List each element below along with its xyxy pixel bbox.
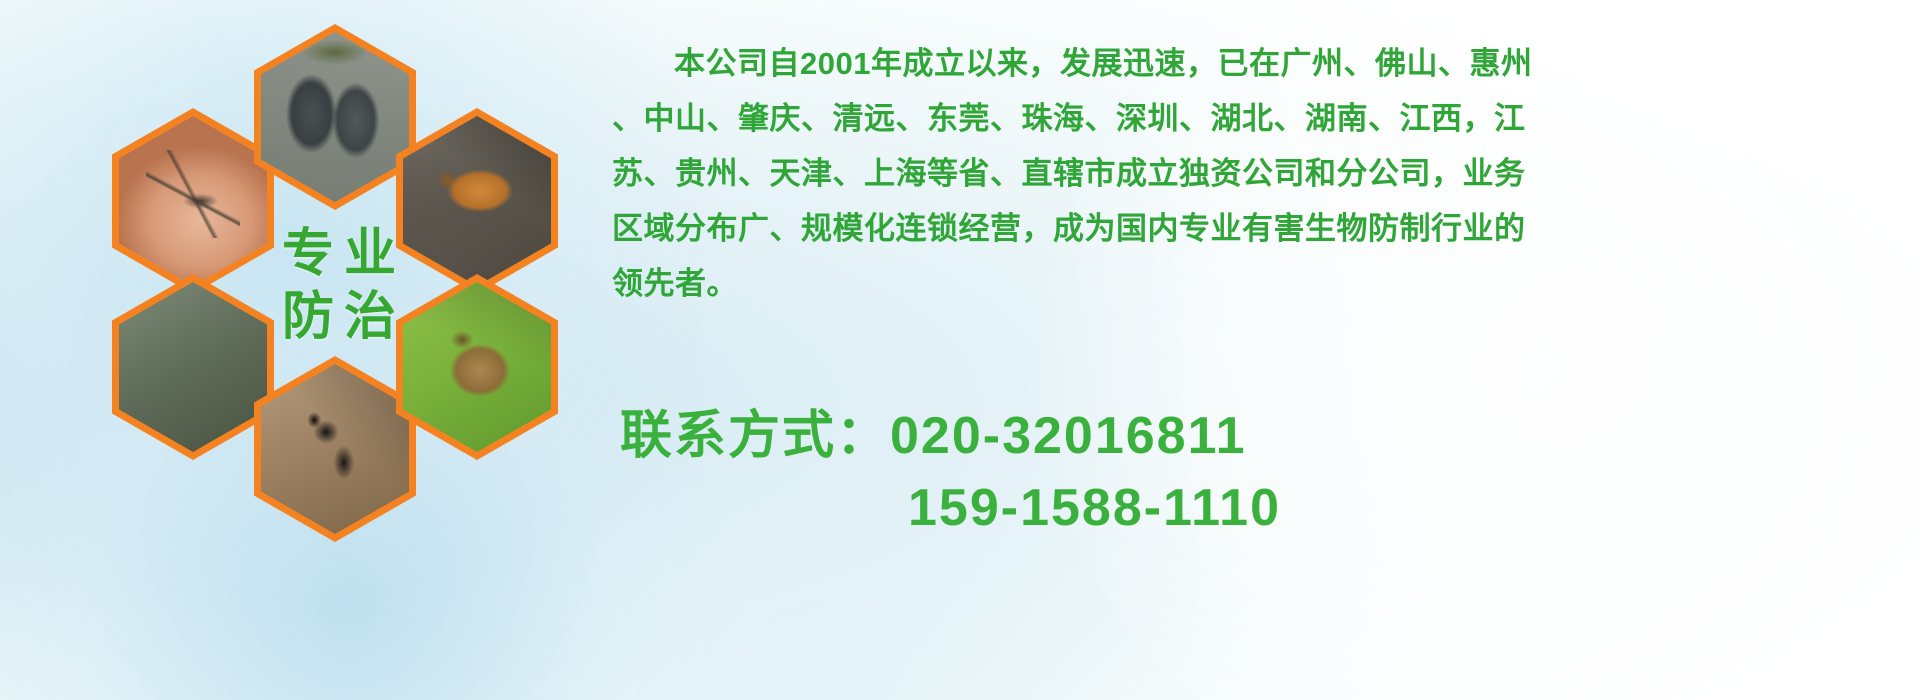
description-line-5: 领先者。 xyxy=(612,256,1912,311)
logo-slogan-line-1: 专业 xyxy=(272,223,406,286)
rats-photo xyxy=(261,32,409,202)
description-line-2: 、中山、肇庆、清远、东莞、珠海、深圳、湖北、湖南、江西，江 xyxy=(612,91,1912,146)
contact-phone-secondary[interactable]: 159-1588-1110 xyxy=(620,472,1920,544)
hexagon-photo-cockroach xyxy=(396,108,558,294)
cockroach-photo xyxy=(403,116,551,286)
hexagon-photo-flies xyxy=(112,274,274,460)
stinkbug-photo xyxy=(403,282,551,452)
flies-photo xyxy=(119,282,267,452)
hexagon-pest-collage: 专业 防治 xyxy=(86,6,596,566)
hexagon-photo-ant xyxy=(254,356,416,542)
description-line-1: 本公司自2001年成立以来，发展迅速，已在广州、佛山、惠州 xyxy=(612,36,1912,91)
logo-slogan: 专业 防治 xyxy=(264,196,414,376)
ant-photo xyxy=(261,364,409,534)
hexagon-photo-rats xyxy=(254,24,416,210)
hexagon-photo-mosquito xyxy=(112,108,274,294)
description-line-3: 苏、贵州、天津、上海等省、直辖市成立独资公司和分公司，业务 xyxy=(612,146,1912,201)
promo-banner: 专业 防治 本公司自2001年成立以来，发展迅速，已在广州、佛山、惠州 、中山、… xyxy=(0,0,1920,700)
company-description: 本公司自2001年成立以来，发展迅速，已在广州、佛山、惠州 、中山、肇庆、清远、… xyxy=(612,36,1912,311)
mosquito-photo xyxy=(119,116,267,286)
hexagon-photo-stinkbug xyxy=(396,274,558,460)
description-line-4: 区域分布广、规模化连锁经营，成为国内专业有害生物防制行业的 xyxy=(612,201,1912,256)
contact-block: 联系方式：020-32016811 159-1588-1110 xyxy=(620,400,1920,544)
contact-phone-primary[interactable]: 联系方式：020-32016811 xyxy=(620,400,1920,472)
logo-slogan-line-2: 防治 xyxy=(272,286,406,349)
